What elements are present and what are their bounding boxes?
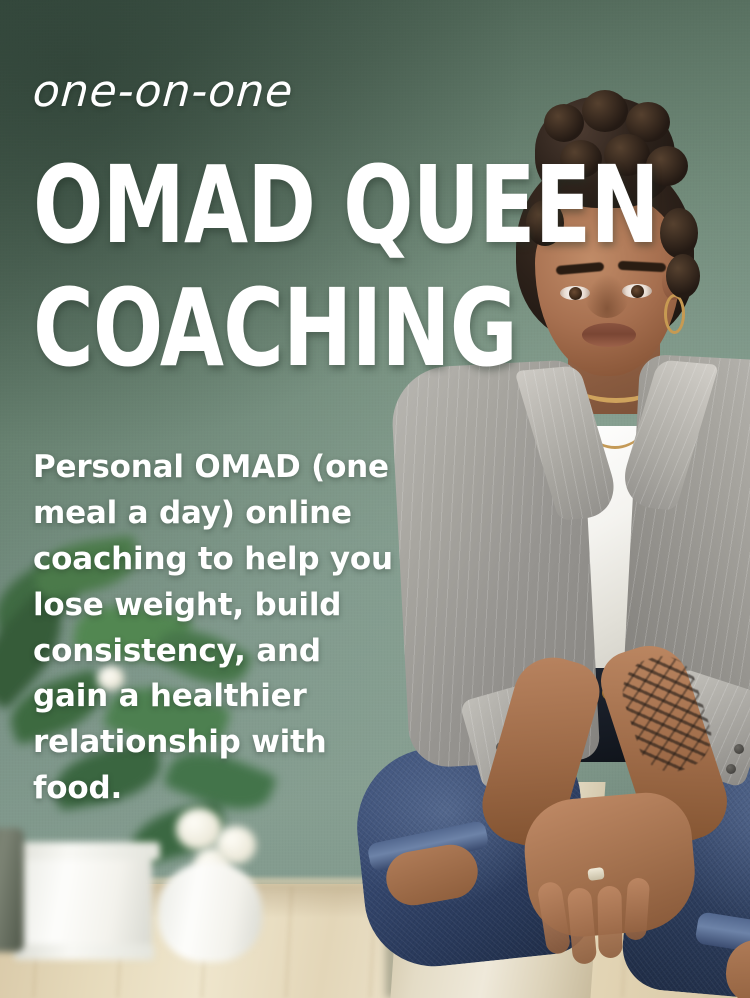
headline-line-1: OMAD QUEEN (33, 160, 515, 252)
text-layer: one-on-one OMAD QUEEN COACHING Personal … (0, 0, 750, 998)
body-paragraph: Personal OMAD (one meal a day) online co… (33, 445, 405, 812)
eyebrow-script-text: one-on-one (31, 66, 295, 117)
headline-line-2: COACHING (33, 283, 515, 375)
poster-canvas: one-on-one OMAD QUEEN COACHING Personal … (0, 0, 750, 998)
